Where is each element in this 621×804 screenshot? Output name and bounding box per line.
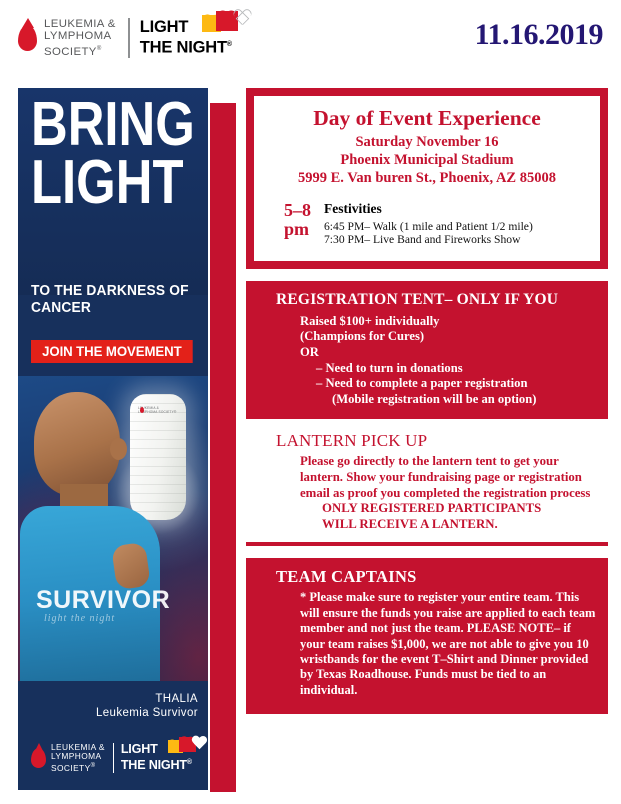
registration-line: Raised $100+ individually (258, 314, 596, 330)
lantern-logo-text: LEUKEMIA & LYMPHOMA SOCIETY® (138, 406, 178, 419)
child-head (34, 392, 120, 496)
poster-lls-line3: SOCIETY® (51, 762, 105, 773)
festivities-details: Festivities 6:45 PM– Walk (1 mile and Pa… (324, 201, 588, 247)
lls-logo-line3: SOCIETY® (44, 43, 116, 58)
registration-line: OR (258, 345, 596, 361)
schedule-item: 6:45 PM– Walk (1 mile and Patient 1/2 mi… (324, 220, 588, 233)
registration-note: (Mobile registration will be an option) (258, 392, 596, 408)
team-captains-title: TEAM CAPTAINS (258, 567, 596, 587)
festivities-heading: Festivities (324, 201, 588, 217)
lantern-pickup-body: Please go directly to the lantern tent t… (258, 454, 596, 501)
logo-divider (128, 18, 130, 58)
heart-white-icon (192, 736, 208, 750)
day-of-event-venue: Phoenix Municipal Stadium (266, 151, 588, 169)
registration-bullet: – Need to complete a paper registration (258, 376, 596, 392)
poster-photo: LEUKEMIA & LYMPHOMA SOCIETY® SURVIVOR li… (18, 376, 208, 681)
registration-line: (Champions for Cures) (258, 329, 596, 345)
shirt-survivor-text: SURVIVOR (36, 586, 170, 615)
poster-lls-logo-text: LEUKEMIA & LYMPHOMA SOCIETY® (51, 743, 105, 773)
day-of-event-card: Day of Event Experience Saturday Novembe… (246, 88, 608, 269)
team-captains-card: TEAM CAPTAINS * Please make sure to regi… (246, 558, 608, 714)
event-time-range: 5–8 pm (266, 201, 324, 247)
info-column: Day of Event Experience Saturday Novembe… (246, 88, 608, 714)
shirt-subtext: light the night (44, 613, 115, 624)
day-of-event-address: 5999 E. Van buren St., Phoenix, AZ 85008 (266, 169, 588, 187)
poster-panel: BRING LIGHT TO THE DARKNESS OF CANCER JO… (18, 88, 208, 790)
poster-red-accent-strip (210, 103, 236, 792)
join-the-movement-button[interactable]: JOIN THE MOVEMENT (31, 340, 193, 363)
hearts-icon (168, 735, 208, 761)
event-date: 11.16.2019 (475, 18, 603, 52)
day-of-event-date: Saturday November 16 (266, 133, 588, 151)
lantern-pickup-card: LANTERN PICK UP Please go directly to th… (246, 429, 608, 546)
lls-logo-line1: LEUKEMIA & (44, 18, 116, 31)
poster-logo-divider (113, 743, 114, 773)
poster-footer-logo-lockup: LEUKEMIA & LYMPHOMA SOCIETY® LIGHT THE N… (31, 743, 192, 773)
light-the-night-logo: LIGHT THE NIGHT® (140, 19, 232, 58)
registration-bullet: – Need to turn in donations (258, 361, 596, 377)
lls-logo-text: LEUKEMIA & LYMPHOMA SOCIETY® (44, 18, 116, 59)
poster-headline: BRING LIGHT (31, 96, 195, 212)
festivities-row: 5–8 pm Festivities 6:45 PM– Walk (1 mile… (266, 201, 588, 247)
child-ear (110, 438, 127, 460)
event-time-hours: 5–8 (284, 201, 324, 220)
lls-logo-line2: LYMPHOMA (44, 30, 116, 43)
lantern-illustration: LEUKEMIA & LYMPHOMA SOCIETY® (130, 394, 186, 520)
registration-tent-title: REGISTRATION TENT– ONLY IF YOU (258, 291, 596, 309)
blood-drop-icon (18, 25, 37, 51)
lantern-pickup-emphasis: WILL RECEIVE A LANTERN. (258, 517, 596, 533)
poster-lls-line2: LYMPHOMA (51, 752, 105, 761)
team-captains-body: * Please make sure to register your enti… (258, 590, 596, 698)
lantern-drop-icon (140, 407, 144, 413)
registration-tent-card: REGISTRATION TENT– ONLY IF YOU Raised $1… (246, 281, 608, 420)
photo-credit-role: Leukemia Survivor (96, 706, 198, 720)
lantern-pickup-title: LANTERN PICK UP (258, 431, 596, 451)
blood-drop-icon (31, 748, 46, 768)
heart-outline-icon (233, 9, 253, 28)
photo-credit: THALIA Leukemia Survivor (96, 692, 198, 720)
poster-subhead: TO THE DARKNESS OF CANCER (31, 283, 191, 317)
schedule-item: 7:30 PM– Live Band and Fireworks Show (324, 233, 588, 246)
photo-credit-name: THALIA (96, 692, 198, 706)
event-time-meridiem: pm (284, 220, 324, 239)
page-header: LEUKEMIA & LYMPHOMA SOCIETY® LIGHT THE N… (0, 0, 621, 86)
header-logo-lockup: LEUKEMIA & LYMPHOMA SOCIETY® LIGHT THE N… (18, 14, 232, 62)
hearts-icon (202, 9, 264, 43)
campaign-poster: BRING LIGHT TO THE DARKNESS OF CANCER JO… (18, 88, 236, 792)
poster-ltn-logo: LIGHT THE NIGHT® (121, 743, 192, 773)
lantern-pickup-emphasis: ONLY REGISTERED PARTICIPANTS (258, 501, 596, 517)
day-of-event-title: Day of Event Experience (266, 106, 588, 131)
